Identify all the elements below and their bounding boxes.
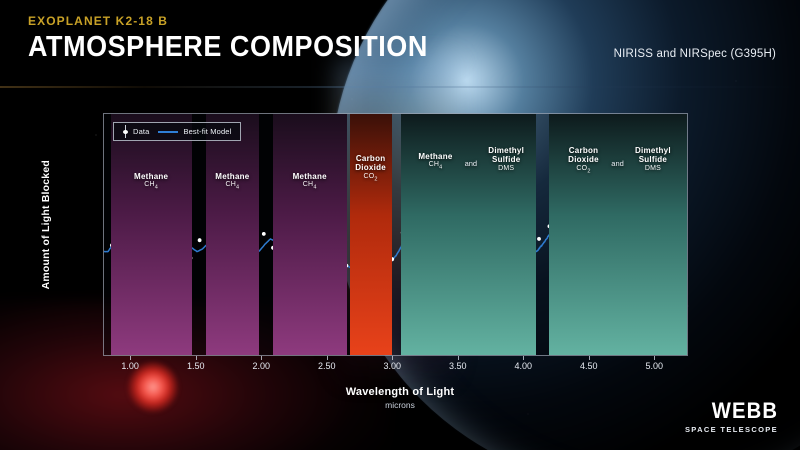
ann-ch4-dms-right: DimethylSulfideDMS [471,146,541,173]
x-tick-label: 5.00 [634,361,674,371]
x-tick-label: 3.00 [372,361,412,371]
x-tick-mark [130,356,131,360]
x-tick-label: 3.50 [438,361,478,371]
infographic-canvas: Exoplanet K2-18 b ATMOSPHERE COMPOSITION… [0,0,800,450]
plot-area: MethaneCH4MethaneCH4MethaneCH4CarbonDiox… [104,114,687,355]
ann-methane-1: MethaneCH4 [109,172,193,191]
band-methane-3 [273,114,347,355]
ann-methane-2: MethaneCH4 [190,172,274,191]
x-tick-label: 1.00 [110,361,150,371]
x-tick-mark [196,356,197,360]
header-divider [0,86,800,88]
x-tick-label: 2.50 [307,361,347,371]
legend-item-model: Best-fit Model [158,127,231,136]
x-tick-mark [654,356,655,360]
x-tick-mark [261,356,262,360]
legend-label-data: Data [133,127,149,136]
model-line-icon [158,131,178,133]
y-axis-title: Amount of Light Blocked [40,160,52,289]
x-tick-label: 1.50 [176,361,216,371]
webb-logo-subtitle: SPACE TELESCOPE [685,425,778,434]
x-tick-mark [458,356,459,360]
x-tick-mark [392,356,393,360]
band-carbon-dioxide [350,114,392,355]
instrument-label: NIRISS and NIRSpec (G395H) [614,48,776,60]
webb-logo-mark: WEBB [692,398,778,424]
x-axis-title: Wavelength of Light [0,386,800,398]
header: Exoplanet K2-18 b ATMOSPHERE COMPOSITION [28,14,458,63]
page-title: ATMOSPHERE COMPOSITION [28,32,428,63]
webb-logo: WEBB SPACE TELESCOPE [685,398,778,434]
x-tick-mark [589,356,590,360]
x-tick-mark [327,356,328,360]
x-tick-label: 4.00 [503,361,543,371]
x-tick-mark [523,356,524,360]
legend-item-data: Data [123,125,149,138]
chart-legend[interactable]: Data Best-fit Model [113,122,241,141]
band-methane-1 [111,114,192,355]
data-marker-icon [123,125,128,138]
band-methane-2 [206,114,260,355]
x-axis-units: microns [0,400,800,410]
x-tick-label: 4.50 [569,361,609,371]
spectrum-plot[interactable]: MethaneCH4MethaneCH4MethaneCH4CarbonDiox… [103,113,688,356]
ann-co2-dms-right: DimethylSulfideDMS [618,146,687,173]
legend-label-model: Best-fit Model [183,127,231,136]
x-tick-label: 2.00 [241,361,281,371]
eyebrow-subject: Exoplanet K2-18 b [28,14,458,28]
